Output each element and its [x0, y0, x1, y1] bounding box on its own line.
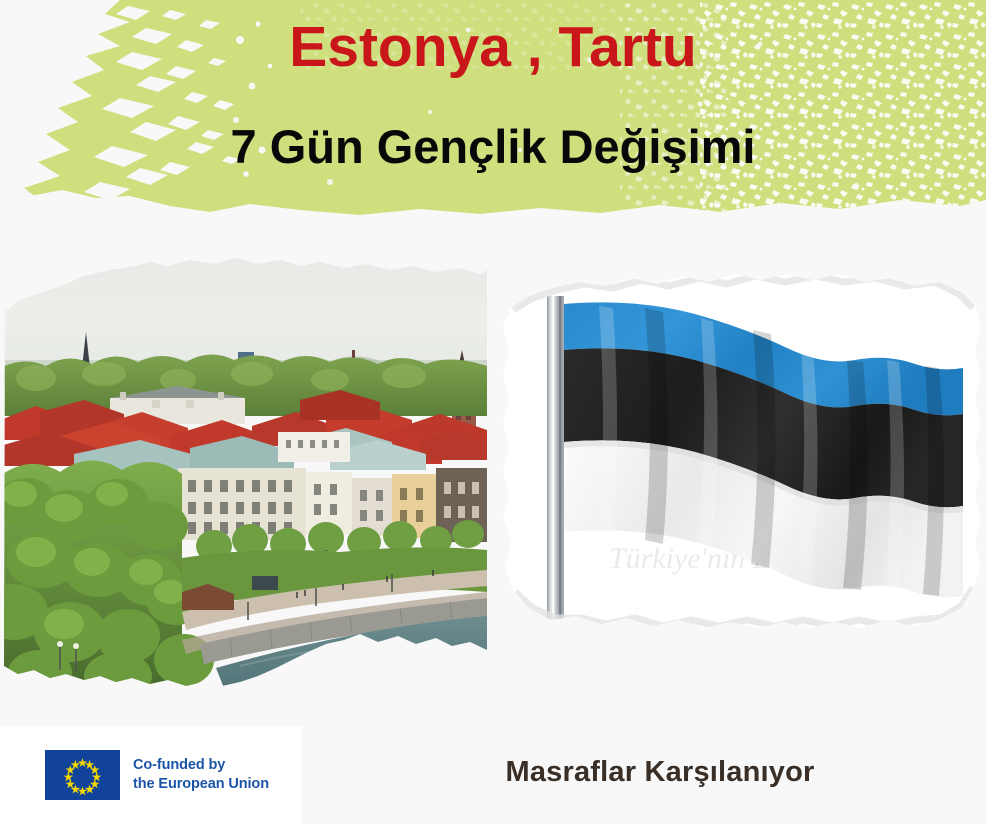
footer-tagline: Masraflar Karşılanıyor [440, 756, 880, 789]
eu-logo-text: Co-funded by the European Union [133, 756, 269, 794]
photo-row: Türkiye'nin Bayrakçısı [0, 218, 986, 688]
eu-logo-line1: Co-funded by [133, 756, 269, 775]
poster-canvas: Estonya , Tartu 7 Gün Gençlik Değişimi [0, 0, 986, 824]
estonia-flag-photo: Türkiye'nin Bayrakçısı [495, 268, 986, 668]
eu-cofunding-logo: Co-funded by the European Union [0, 726, 302, 824]
eu-flag-icon [45, 750, 120, 800]
header-brush-band: Estonya , Tartu 7 Gün Gençlik Değişimi [0, 0, 986, 218]
tartu-cityscape-photo [0, 240, 487, 688]
eu-logo-line2: the European Union [133, 775, 269, 794]
